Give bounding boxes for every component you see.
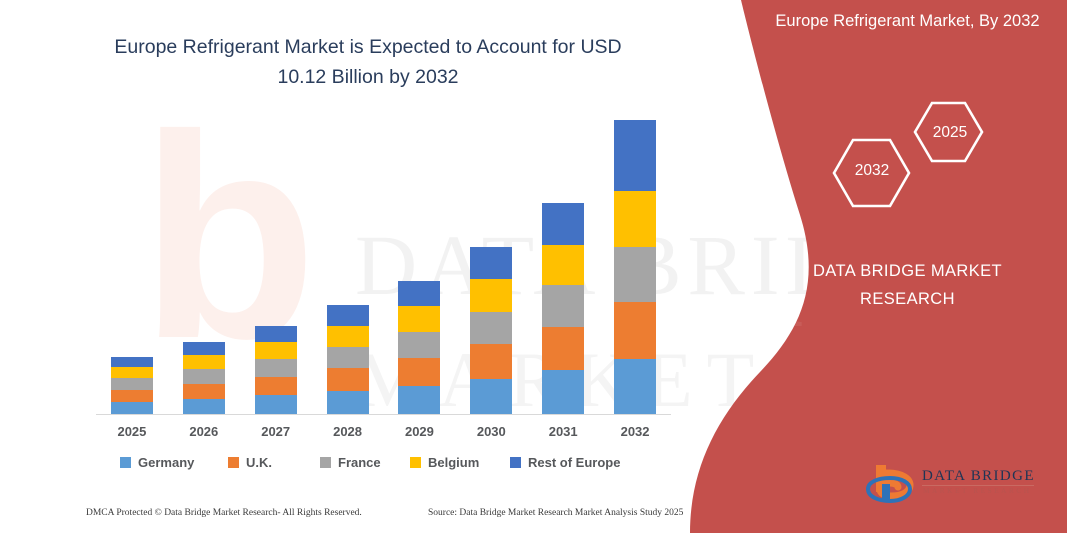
segment-rest-of-europe-2026 xyxy=(183,342,225,355)
segment-belgium-2026 xyxy=(183,355,225,369)
segment-france-2032 xyxy=(614,247,656,302)
logo-divider xyxy=(922,485,1034,486)
segment-germany-2031 xyxy=(542,370,584,415)
legend-swatch-icon xyxy=(410,457,421,468)
segment-belgium-2025 xyxy=(111,367,153,378)
x-tick-2031: 2031 xyxy=(528,424,598,439)
panel-title: Europe Refrigerant Market, By 2032 xyxy=(760,8,1055,34)
legend-swatch-icon xyxy=(120,457,131,468)
logo-subtitle: MARKET RESEARCH xyxy=(923,487,1032,495)
segment-rest-of-europe-2028 xyxy=(327,305,369,325)
hexagon-2032-label: 2032 xyxy=(842,162,902,180)
legend-item-belgium[interactable]: Belgium xyxy=(410,455,479,470)
bar-2027 xyxy=(255,326,297,415)
segment-france-2025 xyxy=(111,378,153,390)
footer-source: Source: Data Bridge Market Research Mark… xyxy=(428,508,683,518)
segment-belgium-2029 xyxy=(398,306,440,332)
x-tick-2030: 2030 xyxy=(456,424,526,439)
legend-label: Germany xyxy=(138,455,194,470)
segment-belgium-2027 xyxy=(255,342,297,359)
segment-germany-2029 xyxy=(398,386,440,415)
segment-rest-of-europe-2032 xyxy=(614,120,656,191)
legend-swatch-icon xyxy=(510,457,521,468)
segment-belgium-2028 xyxy=(327,326,369,347)
x-tick-2029: 2029 xyxy=(384,424,454,439)
segment-u-k--2030 xyxy=(470,344,512,378)
segment-germany-2030 xyxy=(470,379,512,415)
segment-rest-of-europe-2025 xyxy=(111,357,153,367)
segment-belgium-2031 xyxy=(542,245,584,286)
legend-swatch-icon xyxy=(320,457,331,468)
bar-2032 xyxy=(614,120,656,415)
legend-label: Rest of Europe xyxy=(528,455,620,470)
legend-item-germany[interactable]: Germany xyxy=(120,455,194,470)
bar-2031 xyxy=(542,203,584,415)
chart-title: Europe Refrigerant Market is Expected to… xyxy=(108,32,628,92)
segment-germany-2032 xyxy=(614,359,656,415)
segment-rest-of-europe-2029 xyxy=(398,281,440,306)
segment-u-k--2026 xyxy=(183,384,225,399)
x-axis-line xyxy=(96,414,671,415)
data-bridge-logo: DATA BRIDGE MARKET RESEARCH xyxy=(862,462,1037,510)
segment-rest-of-europe-2030 xyxy=(470,247,512,279)
segment-france-2030 xyxy=(470,312,512,345)
red-panel-content: RI Europe Refrigerant Market, By 2032 20… xyxy=(760,0,1067,533)
legend-item-u-k-[interactable]: U.K. xyxy=(228,455,272,470)
segment-france-2027 xyxy=(255,359,297,376)
panel-brand-line-2: RESEARCH xyxy=(760,285,1055,313)
segment-u-k--2032 xyxy=(614,302,656,359)
footer-copyright: DMCA Protected © Data Bridge Market Rese… xyxy=(86,508,362,518)
legend-label: France xyxy=(338,455,381,470)
segment-rest-of-europe-2027 xyxy=(255,326,297,342)
segment-germany-2027 xyxy=(255,395,297,415)
bar-2028 xyxy=(327,305,369,415)
bar-2026 xyxy=(183,342,225,415)
stacked-bar-plot xyxy=(96,120,671,415)
legend-item-france[interactable]: France xyxy=(320,455,381,470)
segment-u-k--2029 xyxy=(398,358,440,386)
chart-legend: GermanyU.K.FranceBelgiumRest of Europe xyxy=(120,455,660,475)
infographic-canvas: b DATA BRIDGE MARKET RESEARCH Europe Ref… xyxy=(0,0,1067,533)
segment-germany-2026 xyxy=(183,399,225,415)
x-tick-2025: 2025 xyxy=(97,424,167,439)
segment-u-k--2031 xyxy=(542,327,584,370)
segment-germany-2028 xyxy=(327,391,369,415)
x-axis-tick-labels: 20252026202720282029203020312032 xyxy=(96,424,671,446)
x-tick-2028: 2028 xyxy=(313,424,383,439)
logo-mark-icon xyxy=(862,462,920,508)
x-tick-2026: 2026 xyxy=(169,424,239,439)
panel-brand: DATA BRIDGE MARKET RESEARCH xyxy=(760,257,1055,313)
x-tick-2027: 2027 xyxy=(241,424,311,439)
segment-france-2028 xyxy=(327,347,369,369)
legend-item-rest-of-europe[interactable]: Rest of Europe xyxy=(510,455,620,470)
logo-title: DATA BRIDGE xyxy=(922,468,1035,485)
x-tick-2032: 2032 xyxy=(600,424,670,439)
segment-u-k--2027 xyxy=(255,377,297,396)
segment-france-2026 xyxy=(183,369,225,384)
legend-label: Belgium xyxy=(428,455,479,470)
hexagon-2025-label: 2025 xyxy=(920,124,980,142)
hexagon-badges xyxy=(760,95,1060,225)
segment-france-2029 xyxy=(398,332,440,358)
segment-rest-of-europe-2031 xyxy=(542,203,584,244)
segment-u-k--2028 xyxy=(327,368,369,391)
legend-swatch-icon xyxy=(228,457,239,468)
bar-2029 xyxy=(398,281,440,415)
bar-2030 xyxy=(470,247,512,415)
panel-brand-line-1: DATA BRIDGE MARKET xyxy=(760,257,1055,285)
segment-belgium-2032 xyxy=(614,191,656,248)
segment-france-2031 xyxy=(542,285,584,326)
bar-2025 xyxy=(111,357,153,415)
segment-belgium-2030 xyxy=(470,279,512,311)
legend-label: U.K. xyxy=(246,455,272,470)
segment-u-k--2025 xyxy=(111,390,153,402)
